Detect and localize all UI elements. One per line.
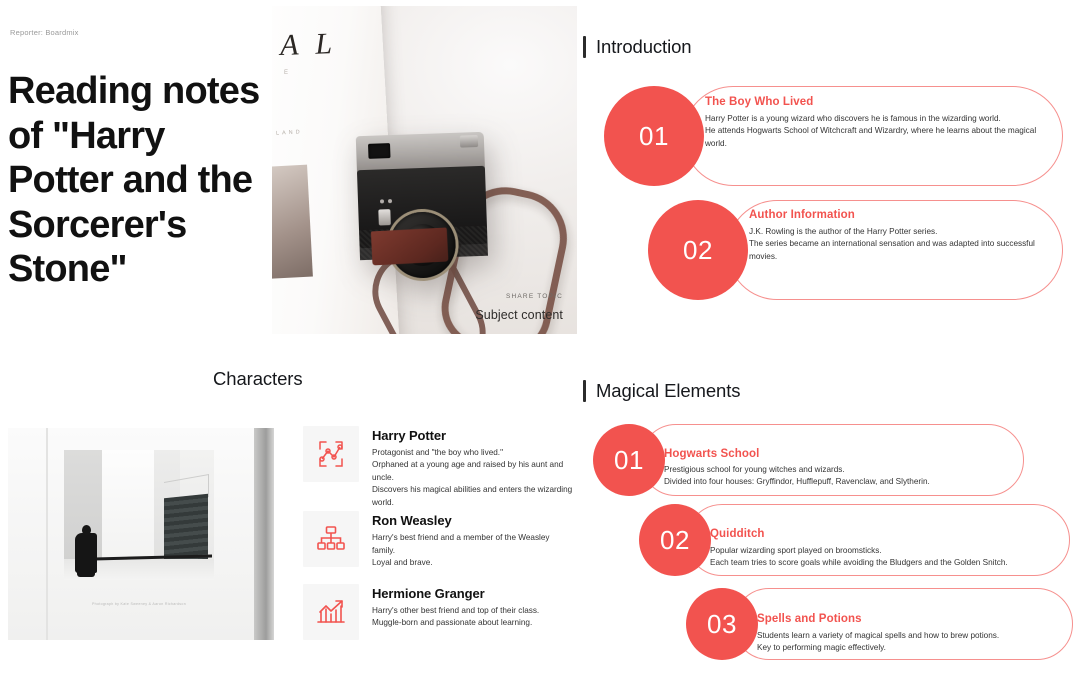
- introduction-item-text: J.K. Rowling is the author of the Harry …: [749, 226, 1061, 263]
- character-name: Hermione Granger: [372, 586, 573, 601]
- magical-elements-heading: Magical Elements: [583, 380, 740, 402]
- magical-element-number: 01: [593, 424, 665, 496]
- character-list-item[interactable]: Harry Potter Protagonist and "the boy wh…: [303, 426, 573, 509]
- person-silhouette-head: [82, 525, 91, 535]
- character-info: Harry Potter Protagonist and "the boy wh…: [372, 426, 573, 509]
- book-page-edge: [254, 428, 274, 640]
- character-description: Protagonist and "the boy who lived." Orp…: [372, 447, 573, 509]
- heading-accent-bar: [583, 36, 586, 58]
- character-description: Harry's other best friend and top of the…: [372, 605, 573, 630]
- person-silhouette-legs: [77, 568, 95, 577]
- growth-bar-chart-icon: [303, 584, 359, 640]
- page-title: Reading notes of "Harry Potter and the S…: [8, 69, 263, 291]
- reporter-label: Reporter: Boardmix: [10, 28, 79, 37]
- scatter-chart-icon: [303, 426, 359, 482]
- magazine-letter: A L: [279, 27, 337, 63]
- person-silhouette-body: [75, 533, 97, 573]
- hero-photo: A L E LAND SHARE TOPIC Subject content: [272, 6, 577, 334]
- hero-kicker: SHARE TOPIC: [506, 293, 563, 300]
- characters-heading: Characters: [213, 368, 302, 390]
- magical-element-number: 02: [639, 504, 711, 576]
- introduction-item-title: The Boy Who Lived: [705, 96, 1050, 108]
- characters-list: Harry Potter Protagonist and "the boy wh…: [303, 426, 573, 640]
- introduction-item-content: The Boy Who Lived Harry Potter is a youn…: [705, 96, 1050, 150]
- hierarchy-chart-icon: [303, 511, 359, 567]
- book-spine: [46, 428, 48, 640]
- camera-viewfinder: [368, 143, 391, 159]
- character-description: Harry's best friend and a member of the …: [372, 532, 573, 569]
- character-name: Harry Potter: [372, 428, 573, 443]
- introduction-item-content: Author Information J.K. Rowling is the a…: [749, 209, 1061, 263]
- magazine-subtext: E: [284, 70, 290, 76]
- camera-side-button: [378, 209, 391, 225]
- magical-element-content: Hogwarts School Prestigious school for y…: [664, 448, 1034, 489]
- camera-indicator-dot-1: [380, 199, 384, 203]
- camera-wood-grip: [371, 227, 449, 265]
- magical-elements-heading-label: Magical Elements: [596, 380, 740, 402]
- magical-element-text: Popular wizarding sport played on brooms…: [710, 545, 1070, 570]
- heading-accent-bar: [583, 380, 586, 402]
- magical-element-title: Spells and Potions: [757, 613, 1077, 625]
- magazine-inset-photo: [272, 165, 313, 280]
- hero-caption: Subject content: [475, 308, 563, 322]
- characters-photo: Photograph by Kate Sweeney & Aaron Richa…: [8, 428, 274, 640]
- introduction-heading: Introduction: [583, 36, 691, 58]
- photo-credit: Photograph by Kate Sweeney & Aaron Richa…: [64, 602, 214, 606]
- introduction-item-number: 02: [648, 200, 748, 300]
- introduction-item-title: Author Information: [749, 209, 1061, 221]
- introduction-item-number: 01: [604, 86, 704, 186]
- introduction-heading-label: Introduction: [596, 36, 691, 58]
- character-name: Ron Weasley: [372, 513, 573, 528]
- camera-illustration: [356, 132, 489, 268]
- magical-element-content: Spells and Potions Students learn a vari…: [757, 591, 1077, 655]
- magical-element-number: 03: [686, 588, 758, 660]
- magical-element-text: Students learn a variety of magical spel…: [757, 630, 1077, 655]
- character-info: Ron Weasley Harry's best friend and a me…: [372, 511, 573, 569]
- character-list-item[interactable]: Ron Weasley Harry's best friend and a me…: [303, 511, 573, 569]
- magical-element-title: Quidditch: [710, 528, 1070, 540]
- magical-element-text: Prestigious school for young witches and…: [664, 464, 1034, 489]
- magical-element-title: Hogwarts School: [664, 448, 1034, 460]
- introduction-item-text: Harry Potter is a young wizard who disco…: [705, 113, 1050, 150]
- camera-dial: [460, 135, 478, 148]
- character-list-item[interactable]: Hermione Granger Harry's other best frie…: [303, 584, 573, 640]
- character-info: Hermione Granger Harry's other best frie…: [372, 584, 573, 630]
- camera-indicator-dot-2: [388, 199, 392, 203]
- magical-element-content: Quidditch Popular wizarding sport played…: [710, 506, 1070, 570]
